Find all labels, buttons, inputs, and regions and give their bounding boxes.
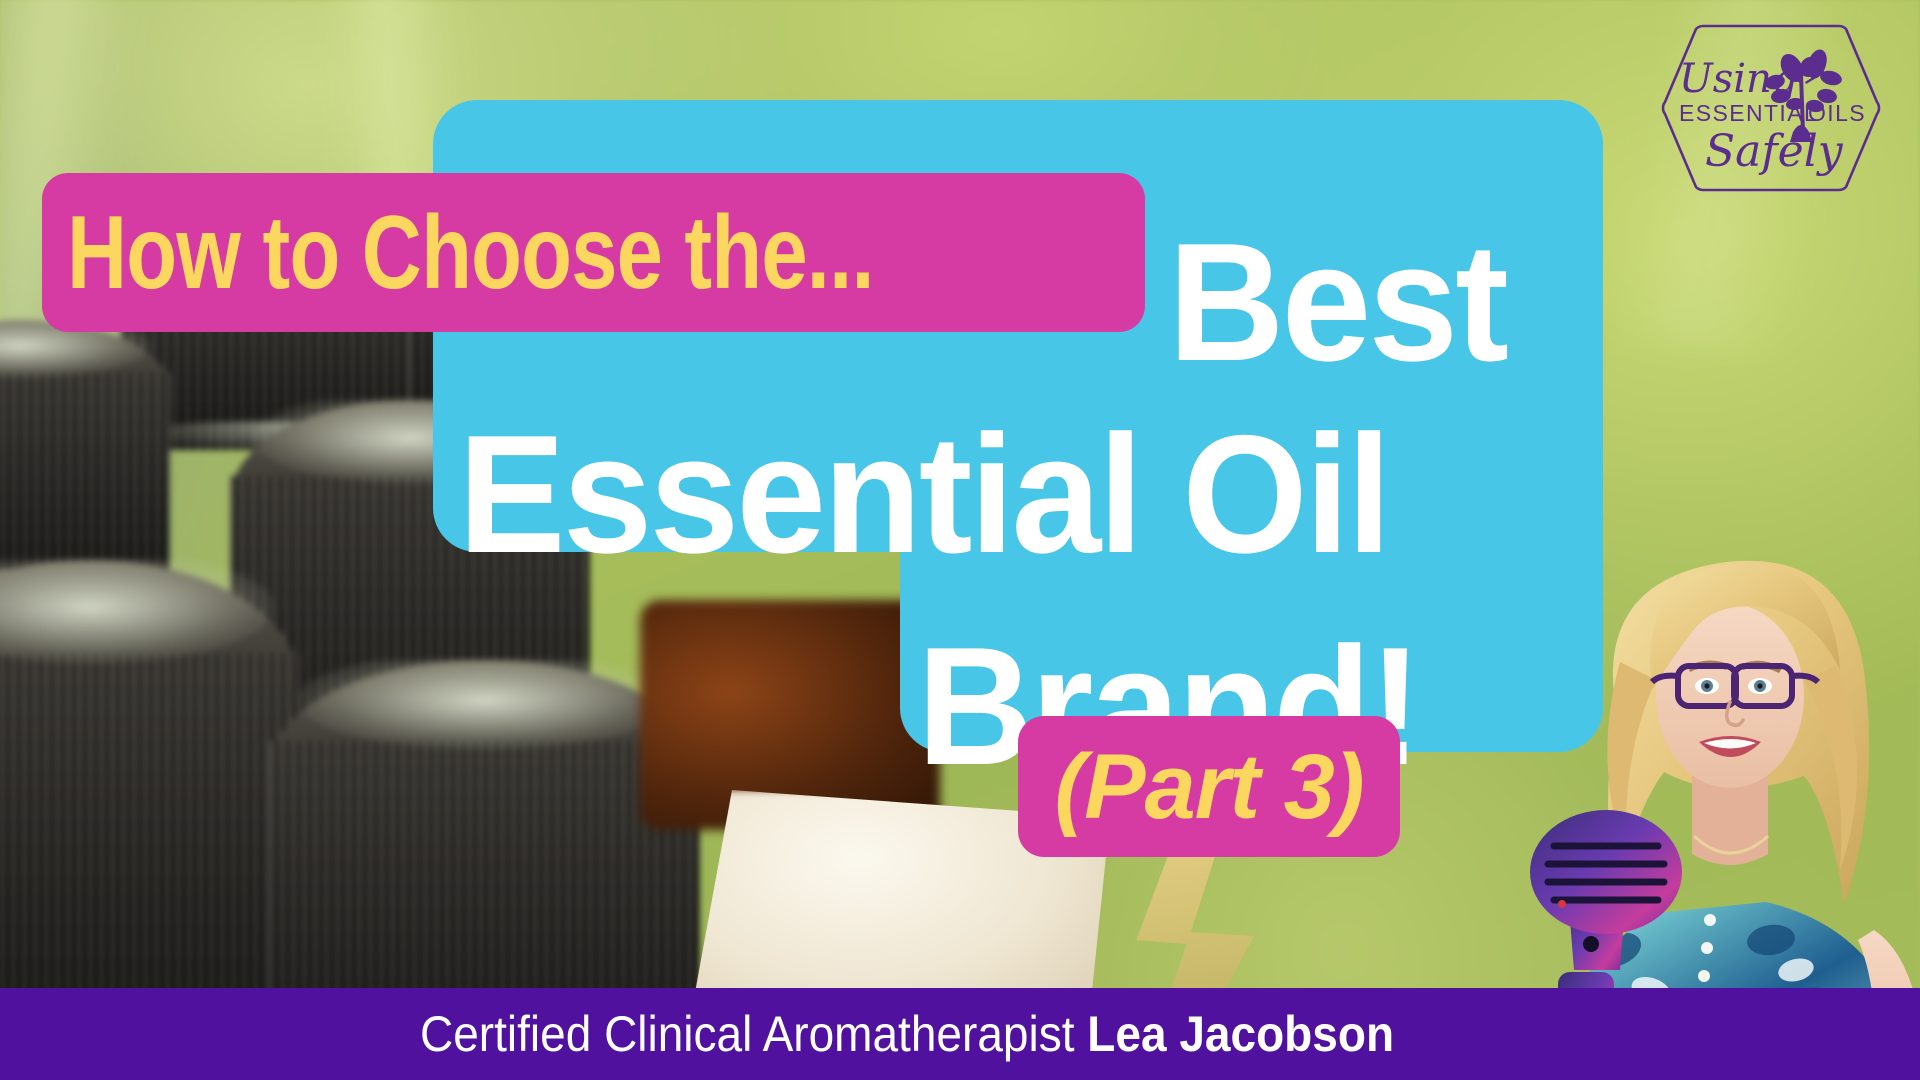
thumbnail-canvas: How to Choose the... Best Essential Oil … (0, 0, 1920, 1080)
microphone-head (1530, 810, 1682, 934)
part-badge-text: (Part 3) (1055, 741, 1364, 833)
headline-line-2: Essential Oil (458, 410, 1389, 578)
logo-script-top: Using (1679, 56, 1797, 102)
presenter-glasses (1652, 666, 1818, 706)
logo-script-bottom: Safely (1705, 126, 1844, 177)
part-badge: (Part 3) (1018, 716, 1400, 857)
brand-logo: Using ESSENTIAL OILS Safely (1655, 18, 1887, 198)
headline-line-1: Best (1168, 218, 1506, 386)
presenter-credit-bar: Certified Clinical Aromatherapist Lea Ja… (0, 988, 1920, 1080)
presenter-name: Lea Jacobson (1087, 1006, 1394, 1062)
logo-caps-2: OILS (1808, 100, 1866, 126)
credential-label: Certified Clinical Aromatherapist (420, 1006, 1087, 1062)
headline-group: Best Essential Oil Brand! (433, 100, 1603, 760)
presenter-credit-text: Certified Clinical Aromatherapist Lea Ja… (420, 1009, 1394, 1059)
logo-caps-1: ESSENTIAL (1679, 100, 1818, 126)
